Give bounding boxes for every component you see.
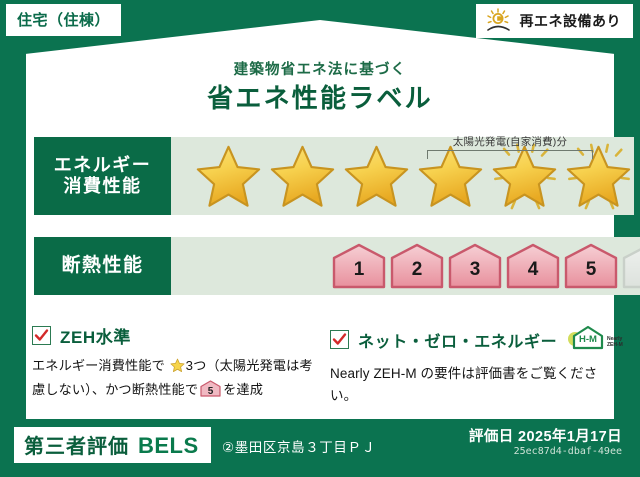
- insulation-grade-3: 3: [447, 242, 503, 290]
- label-title: 省エネ性能ラベル: [0, 78, 640, 115]
- zeh-desc-part1: エネルギー消費性能で: [32, 358, 165, 373]
- insulation-grade-scale: 1234567: [171, 242, 640, 290]
- insulation-grade-value: 1: [331, 259, 387, 281]
- insulation-grade-value: 4: [505, 259, 561, 281]
- zeh-standard-description: エネルギー消費性能で 3つ（太陽光発電は考慮しない）、かつ断熱性能で 5を達成: [32, 355, 322, 401]
- svg-text:ZEH-M: ZEH-M: [607, 342, 623, 348]
- insulation-performance-row: 断熱性能 1234567: [34, 237, 606, 295]
- zeh-standard-heading: ZEH水準: [32, 323, 322, 348]
- insulation-grade-6: 6: [621, 242, 640, 290]
- net-zero-energy-block: ネット・ゼロ・エネルギー H-M Nearly ZEH-M Nearly ZEH…: [330, 323, 610, 406]
- check-icon: [330, 330, 349, 349]
- grade-badge-icon: 5: [200, 380, 221, 397]
- evaluation-date: 評価日 2025年1月17日: [469, 425, 622, 446]
- net-zero-description: Nearly ZEH-M の要件は評価書をご覧ください。: [330, 363, 610, 406]
- evaluation-id: 25ec87d4-dbaf-49ee: [514, 446, 622, 457]
- energy-performance-label: 住宅（住棟） 再エネ設備あり 建築物省エネ法に基づく 省エ: [0, 0, 640, 477]
- housing-type-badge: 住宅（住棟）: [6, 4, 121, 36]
- bels-en-label: BELS: [138, 433, 199, 459]
- star-icon: [166, 361, 185, 376]
- insulation-grade-value: 6: [621, 259, 640, 281]
- insulation-grade-5: 5: [563, 242, 619, 290]
- grade-badge-value: 5: [200, 384, 221, 400]
- zeh-m-house-icon: H-M Nearly ZEH-M: [566, 323, 628, 356]
- zeh-standard-title: ZEH水準: [60, 323, 131, 348]
- insulation-grade-value: 2: [389, 259, 445, 281]
- bels-jp-label: 第三者評価: [24, 430, 129, 459]
- energy-label-line2: 消費性能: [64, 176, 142, 197]
- insulation-performance-label-box: 断熱性能: [34, 237, 171, 295]
- net-zero-heading: ネット・ゼロ・エネルギー H-M Nearly ZEH-M: [330, 323, 610, 356]
- check-icon: [32, 326, 51, 345]
- sun-icon: [484, 8, 514, 34]
- insulation-grade-2: 2: [389, 242, 445, 290]
- insulation-grade-value: 3: [447, 259, 503, 281]
- label-footer: 第三者評価 BELS ②墨田区京島３丁目ＰＪ 評価日 2025年1月17日 25…: [0, 419, 640, 477]
- insulation-grade-value: 5: [563, 259, 619, 281]
- star-icon: [193, 141, 264, 211]
- bels-certification-plate: 第三者評価 BELS: [14, 427, 211, 463]
- label-subtitle: 建築物省エネ法に基づく: [0, 58, 640, 79]
- solar-portion-bracket: [427, 150, 593, 159]
- insulation-grades-area: 1234567: [171, 237, 640, 295]
- svg-text:H-M: H-M: [579, 334, 597, 345]
- insulation-grade-1: 1: [331, 242, 387, 290]
- insulation-grade-4: 4: [505, 242, 561, 290]
- star-icon: [341, 141, 412, 211]
- zeh-desc-part3: を達成: [223, 382, 263, 397]
- star-icon: [267, 141, 338, 211]
- renewable-equipment-badge: 再エネ設備あり: [476, 4, 634, 38]
- energy-performance-label-box: エネルギー 消費性能: [34, 137, 171, 215]
- energy-label-line1: エネルギー: [54, 155, 152, 176]
- housing-type-label: 住宅（住棟）: [17, 12, 110, 29]
- zeh-standard-block: ZEH水準 エネルギー消費性能で 3つ（太陽光発電は考慮しない）、かつ断熱性能で…: [32, 323, 322, 401]
- solar-portion-caption: 太陽光発電(自家消費)分: [415, 134, 605, 149]
- renewable-equipment-label: 再エネ設備あり: [520, 11, 622, 31]
- project-name: ②墨田区京島３丁目ＰＪ: [222, 436, 376, 456]
- insulation-label: 断熱性能: [61, 255, 143, 277]
- net-zero-title: ネット・ゼロ・エネルギー: [358, 328, 557, 352]
